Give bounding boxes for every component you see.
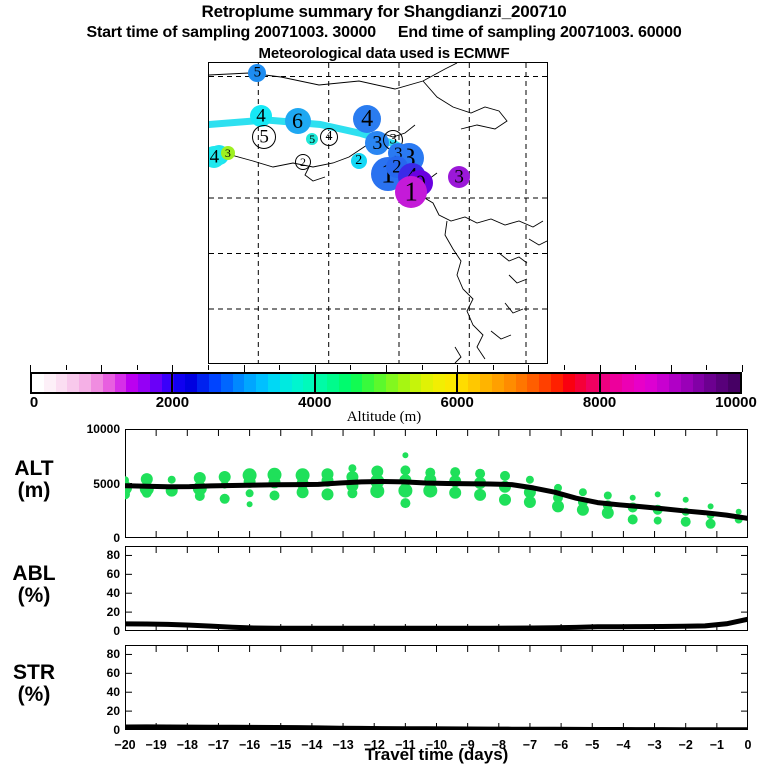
colorbar-swatch (693, 374, 705, 392)
page-title: Retroplume summary for Shangdianzi_20071… (0, 2, 768, 22)
xtick-label: −16 (239, 738, 260, 752)
ytick-label: 10000 (60, 422, 120, 436)
colorbar-swatch (575, 374, 587, 392)
colorbar-swatch (468, 374, 480, 392)
colorbar-swatch (657, 374, 669, 392)
colorbar-tick (315, 365, 316, 372)
xtick-label: −5 (585, 738, 599, 752)
colorbar-swatch (79, 374, 91, 392)
map-cluster-marker (285, 108, 311, 134)
colorbar-swatch (209, 374, 221, 392)
colorbar-swatch (91, 374, 103, 392)
colorbar-tick (66, 365, 67, 370)
panel-str[interactable] (125, 645, 748, 730)
end-time-label: End time of sampling 20071003. 60000 (398, 24, 682, 41)
colorbar-swatch (433, 374, 445, 392)
retroplume-map[interactable]: 5465343452243333124013 (208, 62, 548, 364)
colorbar-swatch (398, 374, 410, 392)
map-cluster-marker (221, 146, 235, 160)
colorbar-swatch (67, 374, 79, 392)
colorbar-swatch (492, 374, 504, 392)
ylabel-line2: (m) (8, 480, 60, 502)
colorbar-swatch (115, 374, 127, 392)
colorbar-swatch (56, 374, 68, 392)
colorbar-tick (671, 365, 672, 372)
colorbar-swatch (126, 374, 138, 392)
xtick-label: 0 (745, 738, 752, 752)
ytick-label: 20 (60, 704, 120, 718)
xtick-label: −20 (114, 738, 135, 752)
colorbar-swatch (410, 374, 422, 392)
xtick-label: −1 (710, 738, 724, 752)
colorbar-swatch (351, 374, 363, 392)
colorbar-swatch (327, 374, 339, 392)
xtick-label: −3 (647, 738, 661, 752)
colorbar-swatch (185, 374, 197, 392)
colorbar-swatch (150, 374, 162, 392)
xtick-label: −14 (301, 738, 322, 752)
ytick-label: 0 (60, 723, 120, 737)
ylabel-line1: ABL (8, 563, 60, 585)
colorbar-swatch (504, 374, 516, 392)
colorbar-tick (457, 365, 458, 372)
xtick-label: −10 (426, 738, 447, 752)
panel-plot-alt (125, 429, 748, 538)
xtick-label: −11 (395, 738, 416, 752)
colorbar-tick (635, 365, 636, 370)
colorbar-swatch (704, 374, 716, 392)
xtick-label: −7 (523, 738, 537, 752)
xtick-label: −17 (208, 738, 229, 752)
colorbar-swatch (362, 374, 374, 392)
colorbar-swatch (516, 374, 528, 392)
ylabel-alt: ALT(m) (8, 458, 60, 502)
colorbar-gradient (30, 372, 742, 394)
colorbar-swatch (457, 374, 469, 392)
colorbar-swatch (622, 374, 634, 392)
colorbar-swatch (645, 374, 657, 392)
colorbar-tick (101, 365, 102, 372)
map-cluster-marker (448, 166, 470, 188)
colorbar-tick (172, 365, 173, 372)
panel-plot-str (125, 645, 748, 730)
ytick-label: 0 (60, 624, 120, 638)
map-cluster-marker (351, 153, 367, 169)
colorbar-swatch (315, 374, 327, 392)
sampling-time-line: Start time of sampling 20071003. 30000En… (0, 24, 768, 42)
map-cluster-marker (320, 128, 338, 146)
colorbar-swatch (539, 374, 551, 392)
panel-alt[interactable] (125, 429, 748, 538)
colorbar-swatch (551, 374, 563, 392)
map-cluster-marker (252, 125, 276, 149)
colorbar-swatch (244, 374, 256, 392)
colorbar-swatch (421, 374, 433, 392)
panel-plot-abl (125, 546, 748, 631)
colorbar-swatch (197, 374, 209, 392)
colorbar-tick (742, 365, 743, 372)
colorbar-swatch (681, 374, 693, 392)
ytick-label: 60 (60, 666, 120, 680)
colorbar-tick (279, 365, 280, 370)
xtick-label: −6 (554, 738, 568, 752)
colorbar-tick (528, 365, 529, 372)
map-cluster-marker (295, 154, 311, 170)
colorbar-tick (493, 365, 494, 370)
ylabel-line1: ALT (8, 458, 60, 480)
ytick-label: 80 (60, 548, 120, 562)
colorbar-swatch (610, 374, 622, 392)
panel-abl[interactable] (125, 546, 748, 631)
xtick-label: −4 (616, 738, 630, 752)
colorbar-swatch (634, 374, 646, 392)
colorbar-tick (386, 365, 387, 372)
met-data-label: Meteorological data used is ECMWF (0, 45, 768, 62)
ytick-label: 40 (60, 586, 120, 600)
colorbar-separator (314, 372, 316, 394)
ytick-label: 0 (60, 531, 120, 545)
ylabel-line2: (%) (8, 684, 60, 706)
colorbar-swatch (374, 374, 386, 392)
colorbar-swatch (669, 374, 681, 392)
colorbar-swatch (256, 374, 268, 392)
colorbar-tick (564, 365, 565, 370)
altitude-colorbar (30, 372, 742, 394)
map-cluster-marker (395, 176, 427, 208)
retroplume-summary-figure: Retroplume summary for Shangdianzi_20071… (0, 0, 768, 768)
ytick-label: 60 (60, 567, 120, 581)
colorbar-separator (456, 372, 458, 394)
colorbar-swatch (103, 374, 115, 392)
map-cluster-marker (250, 105, 272, 127)
colorbar-swatch (445, 374, 457, 392)
colorbar-tick (350, 365, 351, 370)
colorbar-swatch (527, 374, 539, 392)
colorbar-tick (30, 365, 31, 372)
colorbar-tick (422, 365, 423, 370)
ytick-label: 5000 (60, 477, 120, 491)
colorbar-tick (244, 365, 245, 372)
ylabel-abl: ABL(%) (8, 563, 60, 607)
ylabel-line2: (%) (8, 585, 60, 607)
colorbar-swatch (563, 374, 575, 392)
start-time-label: Start time of sampling 20071003. 30000 (86, 24, 375, 41)
colorbar-swatch (480, 374, 492, 392)
colorbar-swatch (292, 374, 304, 392)
colorbar-swatch (44, 374, 56, 392)
colorbar-swatch (339, 374, 351, 392)
xtick-label: −19 (146, 738, 167, 752)
colorbar-swatch (268, 374, 280, 392)
colorbar-separator (599, 372, 601, 394)
colorbar-swatch (174, 374, 186, 392)
colorbar-swatch (221, 374, 233, 392)
colorbar-swatch (138, 374, 150, 392)
ylabel-str: STR(%) (8, 662, 60, 706)
map-cluster-marker (248, 64, 266, 82)
ytick-label: 40 (60, 685, 120, 699)
colorbar-tick (208, 365, 209, 370)
xtick-label: −12 (364, 738, 385, 752)
xtick-label: −13 (332, 738, 353, 752)
colorbar-swatch (716, 374, 728, 392)
xtick-label: −15 (270, 738, 291, 752)
colorbar-tick (706, 365, 707, 370)
colorbar-separator (171, 372, 173, 394)
ylabel-line1: STR (8, 662, 60, 684)
colorbar-swatch (233, 374, 245, 392)
colorbar-swatch (728, 374, 740, 392)
colorbar-swatch (586, 374, 598, 392)
colorbar-swatch (280, 374, 292, 392)
colorbar-tick (600, 365, 601, 372)
colorbar-swatch (386, 374, 398, 392)
xtick-label: −2 (679, 738, 693, 752)
ytick-label: 80 (60, 647, 120, 661)
map-cluster-marker (306, 133, 318, 145)
colorbar-swatch (32, 374, 44, 392)
map-cluster-marker (353, 105, 381, 133)
ytick-label: 20 (60, 605, 120, 619)
xtick-label: −18 (177, 738, 198, 752)
xtick-label: −9 (461, 738, 475, 752)
xtick-label: −8 (492, 738, 506, 752)
colorbar-tick (137, 365, 138, 370)
